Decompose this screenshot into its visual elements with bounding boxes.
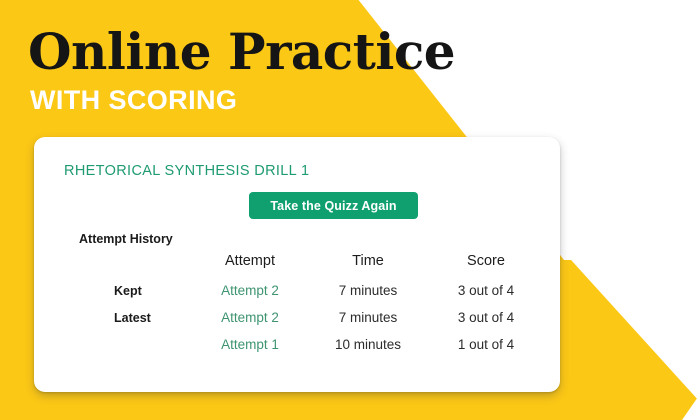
- table-row: Kept Attempt 2 7 minutes 3 out of 4: [50, 277, 546, 304]
- row-label: Kept: [50, 277, 190, 304]
- table-header-row: Attempt Time Score: [50, 253, 546, 277]
- table-row: Attempt 1 10 minutes 1 out of 4: [50, 331, 546, 358]
- column-header-attempt: Attempt: [190, 253, 310, 277]
- quiz-results-card: RHETORICAL SYNTHESIS DRILL 1 Take the Qu…: [34, 137, 560, 392]
- attempt-score: 3 out of 4: [426, 277, 546, 304]
- page-headline: Online Practice: [28, 24, 455, 80]
- attempt-link[interactable]: Attempt 2: [190, 304, 310, 331]
- screenshot-stage: Online Practice WITH SCORING RHETORICAL …: [0, 0, 700, 420]
- attempt-score: 3 out of 4: [426, 304, 546, 331]
- attempt-time: 7 minutes: [310, 304, 426, 331]
- attempt-history-table: Attempt Time Score Kept Attempt 2 7 minu…: [50, 253, 546, 358]
- quiz-title: RHETORICAL SYNTHESIS DRILL 1: [64, 163, 309, 179]
- page-subheadline: WITH SCORING: [30, 85, 237, 115]
- column-header-time: Time: [310, 253, 426, 277]
- row-label: [50, 331, 190, 358]
- attempt-time: 10 minutes: [310, 331, 426, 358]
- attempt-link[interactable]: Attempt 2: [190, 277, 310, 304]
- retake-quiz-button[interactable]: Take the Quizz Again: [249, 192, 418, 219]
- attempt-time: 7 minutes: [310, 277, 426, 304]
- column-header-blank: [50, 253, 190, 277]
- attempt-history-label: Attempt History: [79, 232, 173, 246]
- row-label: Latest: [50, 304, 190, 331]
- attempt-link[interactable]: Attempt 1: [190, 331, 310, 358]
- attempt-score: 1 out of 4: [426, 331, 546, 358]
- column-header-score: Score: [426, 253, 546, 277]
- table-row: Latest Attempt 2 7 minutes 3 out of 4: [50, 304, 546, 331]
